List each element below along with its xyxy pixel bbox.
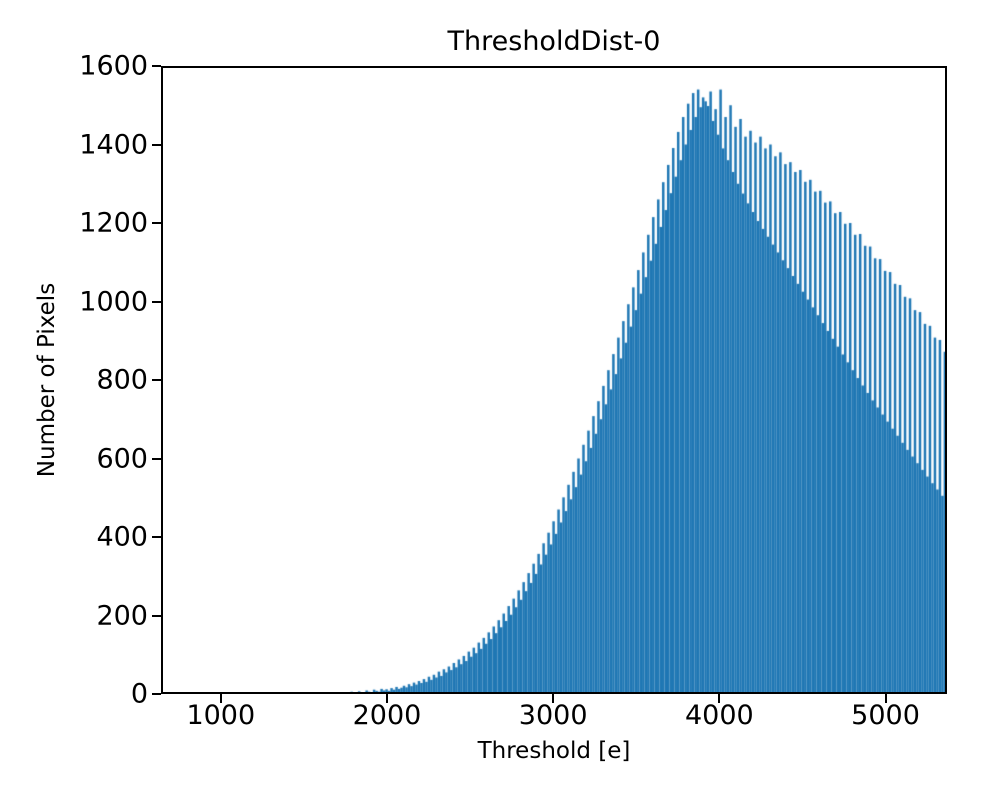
x-axis-tick-label: 3000 — [519, 702, 588, 729]
x-axis-tick-label: 4000 — [685, 702, 754, 729]
y-axis-tick-mark — [152, 536, 161, 538]
x-axis-label: Threshold [e] — [161, 738, 947, 764]
y-axis-tick-label: 800 — [96, 367, 148, 394]
x-axis-tick-label: 1000 — [186, 702, 255, 729]
y-axis-tick-mark — [152, 693, 161, 695]
x-axis-tick-mark — [718, 694, 720, 703]
y-axis-tick-mark — [152, 615, 161, 617]
x-axis-tick-mark — [220, 694, 222, 703]
y-axis-tick-label: 1400 — [79, 131, 148, 158]
y-axis-tick-mark — [152, 65, 161, 67]
y-axis-tick-label: 400 — [96, 524, 148, 551]
histogram-bars — [163, 68, 945, 692]
page-title: ThresholdDist-0 — [161, 26, 947, 57]
y-axis-tick-mark — [152, 222, 161, 224]
histogram-figure: ThresholdDist-0 020040060080010001200140… — [0, 0, 1000, 800]
x-axis-tick-label: 2000 — [353, 702, 422, 729]
y-axis-tick-mark — [152, 301, 161, 303]
x-axis-tick-mark — [885, 694, 887, 703]
plot-area — [161, 66, 947, 694]
y-axis-label: Number of Pixels — [34, 66, 60, 694]
y-axis-tick-label: 200 — [96, 602, 148, 629]
y-axis-tick-labels: 02004006008001000120014001600 — [0, 0, 148, 800]
y-axis-tick-label: 1200 — [79, 210, 148, 237]
x-axis-tick-label: 5000 — [851, 702, 920, 729]
x-axis-tick-mark — [552, 694, 554, 703]
y-axis-tick-label: 0 — [131, 681, 148, 708]
y-axis-tick-mark — [152, 144, 161, 146]
y-axis-tick-mark — [152, 379, 161, 381]
y-axis-tick-label: 1600 — [79, 53, 148, 80]
x-axis-tick-mark — [386, 694, 388, 703]
y-axis-tick-label: 600 — [96, 445, 148, 472]
y-axis-tick-mark — [152, 458, 161, 460]
y-axis-tick-label: 1000 — [79, 288, 148, 315]
